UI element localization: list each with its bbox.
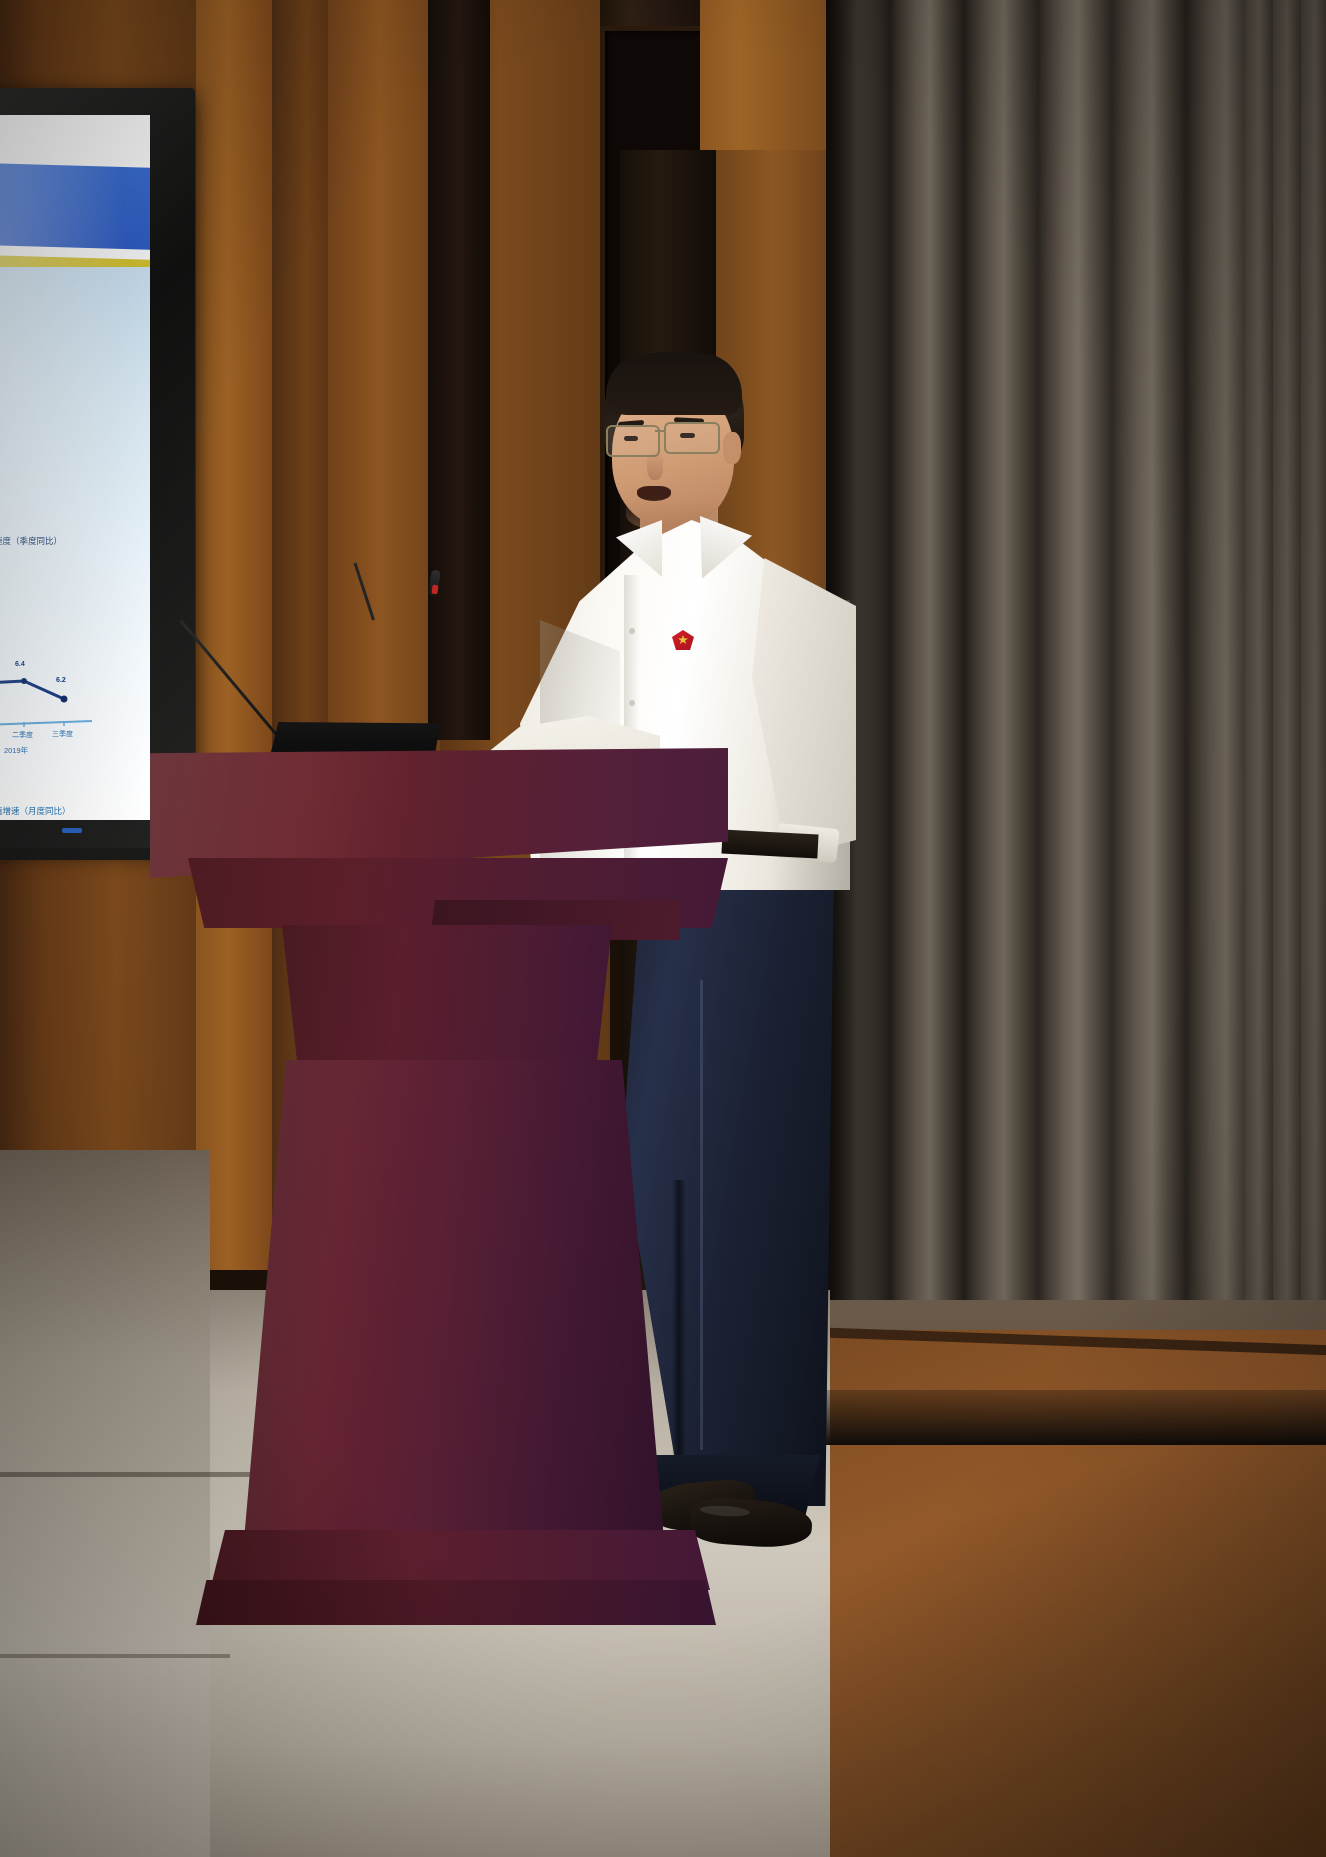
chart-title: 国内生产总值增长速度（季度同比） xyxy=(0,535,62,547)
floor-seam xyxy=(0,1654,230,1658)
podium-foot xyxy=(196,1580,716,1625)
curtain-hem-shadow xyxy=(826,1390,1326,1445)
slide-top-margin xyxy=(0,115,150,171)
wall-dark-column xyxy=(428,0,490,740)
podium-column-sheen xyxy=(244,1060,664,1540)
chart-axis-label: 2019年 xyxy=(4,745,28,756)
person-belt xyxy=(721,830,818,859)
presentation-display: GDP 国内生产总值增长速度（季度同比） 6.4 6 xyxy=(0,115,150,820)
chart-data-label: 6.4 xyxy=(15,661,25,668)
eyeglasses-lens xyxy=(664,422,720,454)
stage-curtain-far xyxy=(1245,0,1326,1420)
floor-stone-tile xyxy=(0,1150,210,1857)
slide: GDP 国内生产总值增长速度（季度同比） 6.4 6 xyxy=(0,115,150,820)
chart-quarterly-gdp: 国内生产总值增长速度（季度同比） 6.4 6.4 6.2 一季度 xyxy=(0,535,146,765)
person-nose xyxy=(647,450,663,480)
chart-tick-label: 二季度 xyxy=(12,730,33,740)
photo-scene: GDP 国内生产总值增长速度（季度同比） 6.4 6 xyxy=(0,0,1326,1857)
chart-title: 规模以上工业增加值增速（月度同比） xyxy=(0,805,71,817)
slide-header-band xyxy=(0,162,150,252)
shirt-button xyxy=(629,700,635,706)
person-ear xyxy=(723,432,741,464)
shirt-button xyxy=(629,628,635,634)
microphone-indicator xyxy=(431,585,438,595)
trouser-crease xyxy=(700,980,703,1450)
person-hair-fringe xyxy=(606,353,742,415)
chart-tick-label: 三季度 xyxy=(52,729,73,739)
curtain-highlight xyxy=(990,0,1230,1430)
display-stand xyxy=(0,848,150,860)
chart-data-label: 6.2 xyxy=(56,677,66,684)
wall-panel xyxy=(196,0,276,1270)
display-power-led xyxy=(62,828,82,833)
eyeglasses-bridge xyxy=(655,430,666,432)
chart-monthly-industry: 规模以上工业增加值增速（月度同比） 5.9 5.4 5.7 5.3 xyxy=(0,805,146,820)
floor-seam xyxy=(0,1472,260,1477)
